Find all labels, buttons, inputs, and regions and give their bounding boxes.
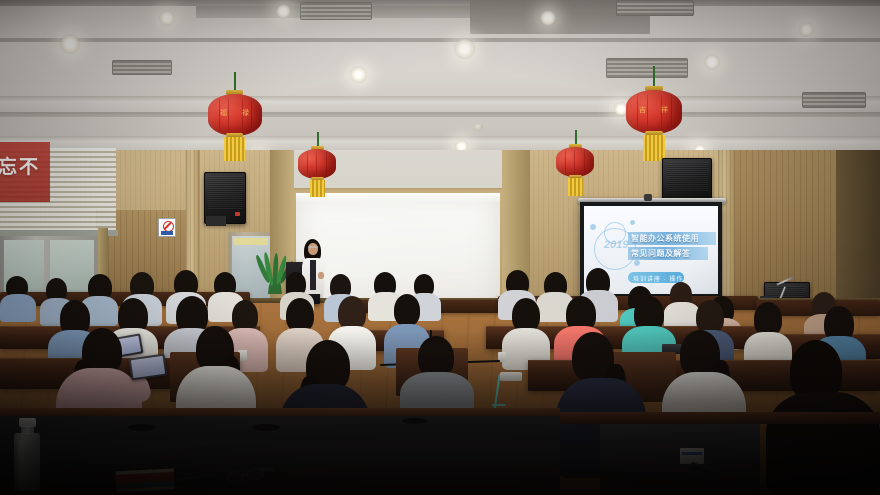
slide-subtitle-pill: 培训讲座 · 操作指南: [628, 272, 684, 283]
downlight-3: [276, 4, 291, 19]
ceiling-vent-2: [606, 58, 688, 78]
person-head: [512, 298, 540, 332]
lantern-1: 福 禄: [208, 94, 262, 136]
lantern-glyph-2: 禄: [242, 110, 249, 117]
slide-title-line1: 智能办公系统使用: [631, 234, 699, 244]
lantern-tassel-3: [568, 178, 583, 196]
lanyard-loop: [492, 404, 506, 406]
smoke-detector: [474, 124, 483, 130]
foreground-desk-edge-right: [560, 412, 880, 424]
presenter-inner-top: [310, 260, 316, 290]
lantern-glyph-3: 吉: [639, 107, 646, 114]
no-smoking-sign: [158, 218, 176, 237]
speaker-bracket-left: [206, 216, 226, 226]
slide-title-line2: 常见问题及解答: [631, 249, 691, 259]
wall-banner: 忘不: [0, 142, 50, 202]
downlight-6: [540, 10, 556, 26]
foreground-desk-sheen: [0, 440, 560, 495]
presenter-face: [308, 243, 318, 255]
lantern-4: 吉 祥: [626, 90, 682, 134]
ceiling-band-2: [0, 136, 880, 150]
downlight-1: [60, 34, 80, 54]
lantern-glyph-1: 福: [220, 110, 227, 117]
person-head: [394, 294, 420, 326]
ceiling-reveal-3: [0, 38, 880, 42]
ceiling: [0, 0, 880, 150]
lantern-3: [556, 147, 594, 177]
wall-speaker-right: [662, 158, 712, 200]
remote-control[interactable]: [500, 372, 522, 381]
person-head: [338, 296, 366, 330]
presenter-glasses: [308, 246, 318, 248]
person-head: [696, 300, 724, 334]
lantern-2: [298, 149, 336, 179]
ceiling-vent-4: [112, 60, 172, 75]
ceiling-vent-3: [616, 0, 694, 16]
bottle-highlight: [18, 440, 23, 486]
lantern-glyph-4: 祥: [661, 107, 668, 114]
side-door-label: [234, 238, 268, 245]
white-backdrop: [296, 193, 500, 309]
presenter-hand: [318, 272, 324, 279]
screen-hook: [644, 194, 652, 201]
person-head: [286, 298, 314, 332]
downlight-8: [704, 54, 720, 70]
slide-dot-1: [590, 224, 596, 230]
lecture-hall-photo: 忘不 福 禄: [0, 0, 880, 495]
lantern-tassel-4: [643, 135, 665, 161]
desk-grommet-1: [128, 424, 156, 431]
no-smoking-strip: [161, 231, 173, 235]
downlight-4: [350, 66, 367, 83]
desk-grommet-2: [252, 424, 280, 431]
desk-grommet-3: [402, 418, 428, 424]
person-body: [766, 392, 880, 495]
downlight-2: [159, 10, 175, 26]
ceiling-reveal-1: [0, 112, 880, 117]
slide-band-1: 智能办公系统使用: [628, 232, 716, 245]
lantern-tassel-2: [310, 180, 325, 197]
slide-dot-2: [630, 220, 635, 225]
downlight-9: [799, 22, 814, 37]
paper-note-line: [682, 452, 702, 455]
slide-dot-3: [634, 260, 640, 266]
person-head: [754, 302, 782, 336]
ceiling-vent-5: [802, 92, 866, 108]
wall-banner-text: 忘不: [0, 158, 40, 177]
ceiling-vent-1: [300, 2, 372, 20]
person-body: [0, 294, 36, 322]
backdrop-glare: [296, 193, 500, 203]
slide-band-2: 常见问题及解答: [628, 247, 708, 260]
speaker-logo-left: [235, 212, 240, 216]
lantern-tassel-1: [224, 137, 245, 161]
ceiling-band-1: [0, 96, 880, 112]
downlight-5: [454, 38, 475, 59]
wall-corner-right: [836, 150, 880, 302]
slide-year: 2019: [604, 239, 628, 251]
